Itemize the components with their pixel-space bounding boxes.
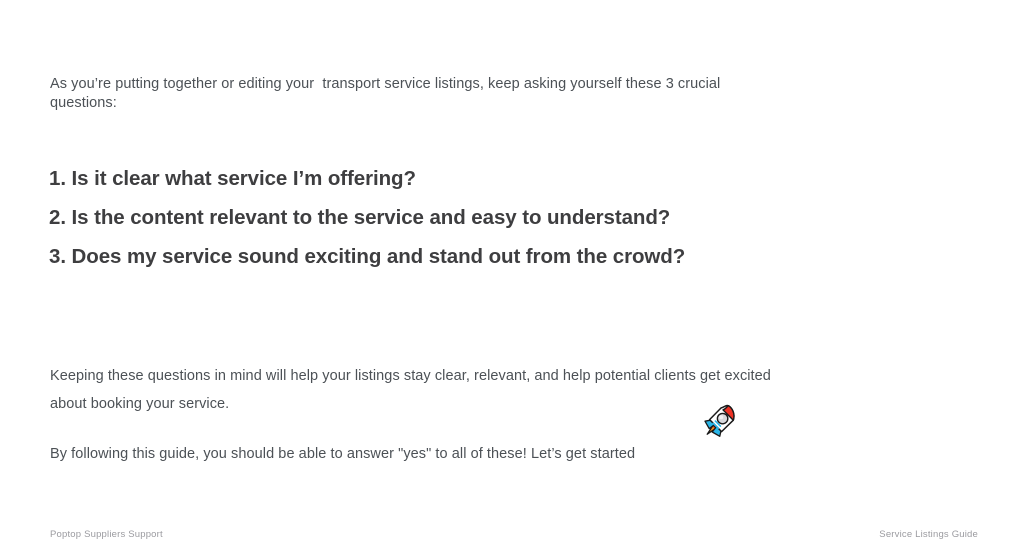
footer-right-label: Service Listings Guide: [879, 529, 978, 540]
question-item-1: 1. Is it clear what service I’m offering…: [49, 159, 809, 198]
closing-paragraph: Keeping these questions in mind will hel…: [50, 362, 780, 418]
question-item-3: 3. Does my service sound exciting and st…: [49, 237, 809, 276]
final-line-paragraph: By following this guide, you should be a…: [50, 445, 730, 464]
intro-paragraph: As you’re putting together or editing yo…: [50, 75, 775, 113]
footer-left-label: Poptop Suppliers Support: [50, 529, 163, 540]
questions-list: 1. Is it clear what service I’m offering…: [49, 159, 809, 276]
question-item-2: 2. Is the content relevant to the servic…: [49, 198, 809, 237]
slide-canvas: As you’re putting together or editing yo…: [0, 0, 1024, 554]
rocket-emoji-icon: [700, 401, 740, 441]
